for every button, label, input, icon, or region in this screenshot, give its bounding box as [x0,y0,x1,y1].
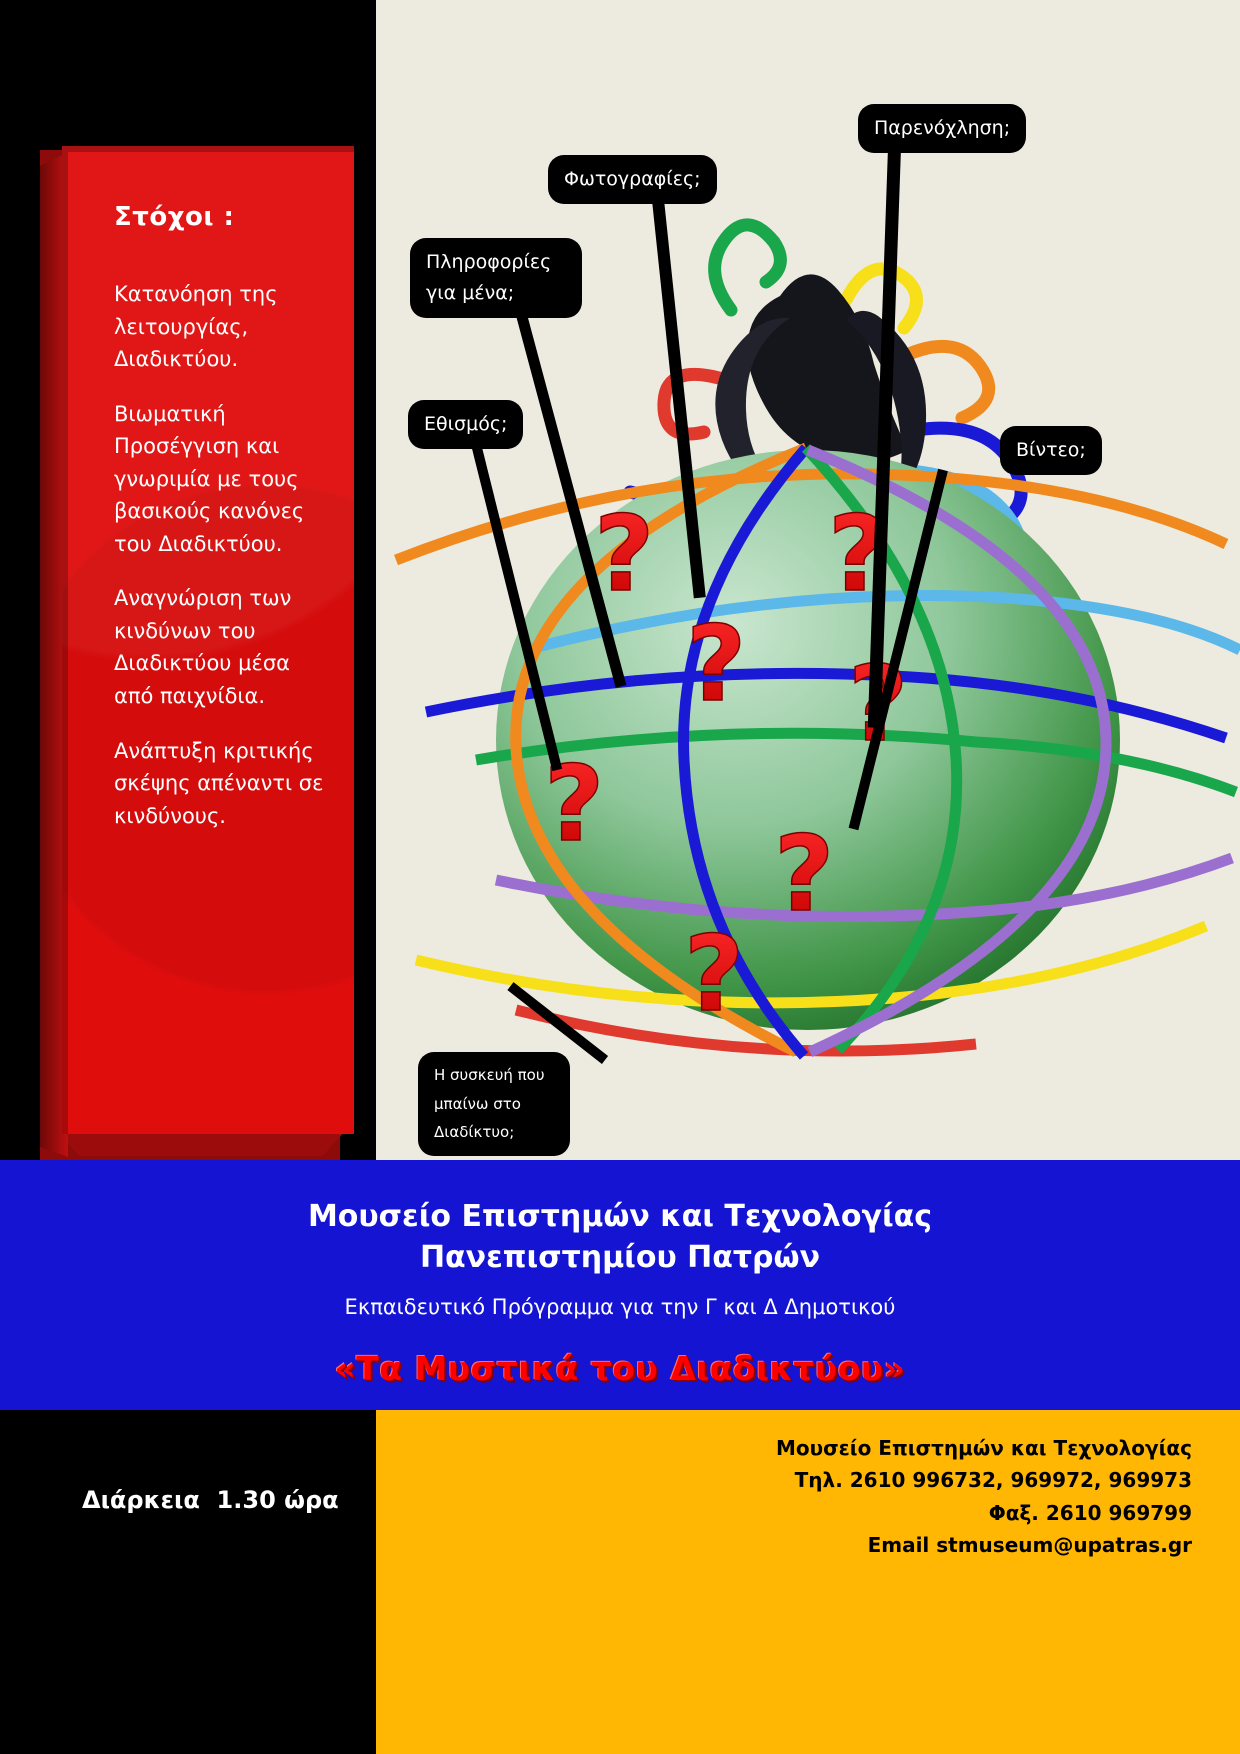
poster-root: ? ? ? ? ? ? ? Παρενόχληση; Φωτογραφίες; … [0,0,1240,1754]
duration-label: Διάρκεια 1.30 ώρα [82,1486,339,1514]
bubble-harassment[interactable]: Παρενόχληση; [858,104,1026,153]
program-subtitle: Εκπαιδευτικό Πρόγραμμα για την Γ και Δ Δ… [0,1279,1240,1319]
program-title: «Τα Μυστικά του Διαδικτύου» [0,1319,1240,1388]
goals-body: Κατανόηση της λειτουργίας, Διαδικτύου. Β… [62,232,354,832]
svg-text:?: ? [684,913,744,1035]
contact-line-1: Μουσείο Επιστημών και Τεχνολογίας [376,1410,1240,1464]
footer-left: Διάρκεια 1.30 ώρα [0,1410,376,1754]
contact-line-2: Τηλ. 2610 996732, 969972, 969973 [376,1464,1240,1496]
poster-stage: ? ? ? ? ? ? ? Παρενόχληση; Φωτογραφίες; … [0,0,1240,1160]
goal-paragraph-4: Ανάπτυξη κριτικής σκέψης απέναντι σε κιν… [114,735,326,833]
svg-text:?: ? [686,603,746,725]
svg-text:?: ? [594,493,654,615]
bubble-info[interactable]: Πληροφορίες για μένα; [410,238,582,318]
goal-paragraph-1: Κατανόηση της λειτουργίας, Διαδικτύου. [114,278,326,376]
blue-banner: Μουσείο Επιστημών και Τεχνολογίας Πανεπι… [0,1160,1240,1410]
svg-text:?: ? [774,813,834,935]
footer-contact: Μουσείο Επιστημών και Τεχνολογίας Τηλ. 2… [376,1410,1240,1754]
bubble-video[interactable]: Βίντεο; [1000,426,1102,475]
goals-heading: Στόχοι : [62,146,354,232]
museum-title-line1: Μουσείο Επιστημών και Τεχνολογίας [0,1196,1240,1237]
museum-title-line2: Πανεπιστημίου Πατρών [0,1237,1240,1278]
goal-paragraph-3: Αναγνώριση των κινδύνων του Διαδικτύου μ… [114,582,326,712]
contact-line-4[interactable]: Email stmuseum@upatras.gr [376,1529,1240,1561]
bubble-addiction[interactable]: Εθισμός; [408,400,523,449]
goals-panel: Στόχοι : Κατανόηση της λειτουργίας, Διαδ… [62,146,354,1134]
museum-title: Μουσείο Επιστημών και Τεχνολογίας Πανεπι… [0,1160,1240,1279]
bubble-device[interactable]: Η συσκευή που μπαίνω στο Διαδίκτυο; [418,1052,570,1156]
bubble-photos[interactable]: Φωτογραφίες; [548,155,717,204]
goal-paragraph-2: Βιωματική Προσέγγιση και γνωριμία με του… [114,398,326,561]
contact-line-3: Φαξ. 2610 969799 [376,1497,1240,1529]
